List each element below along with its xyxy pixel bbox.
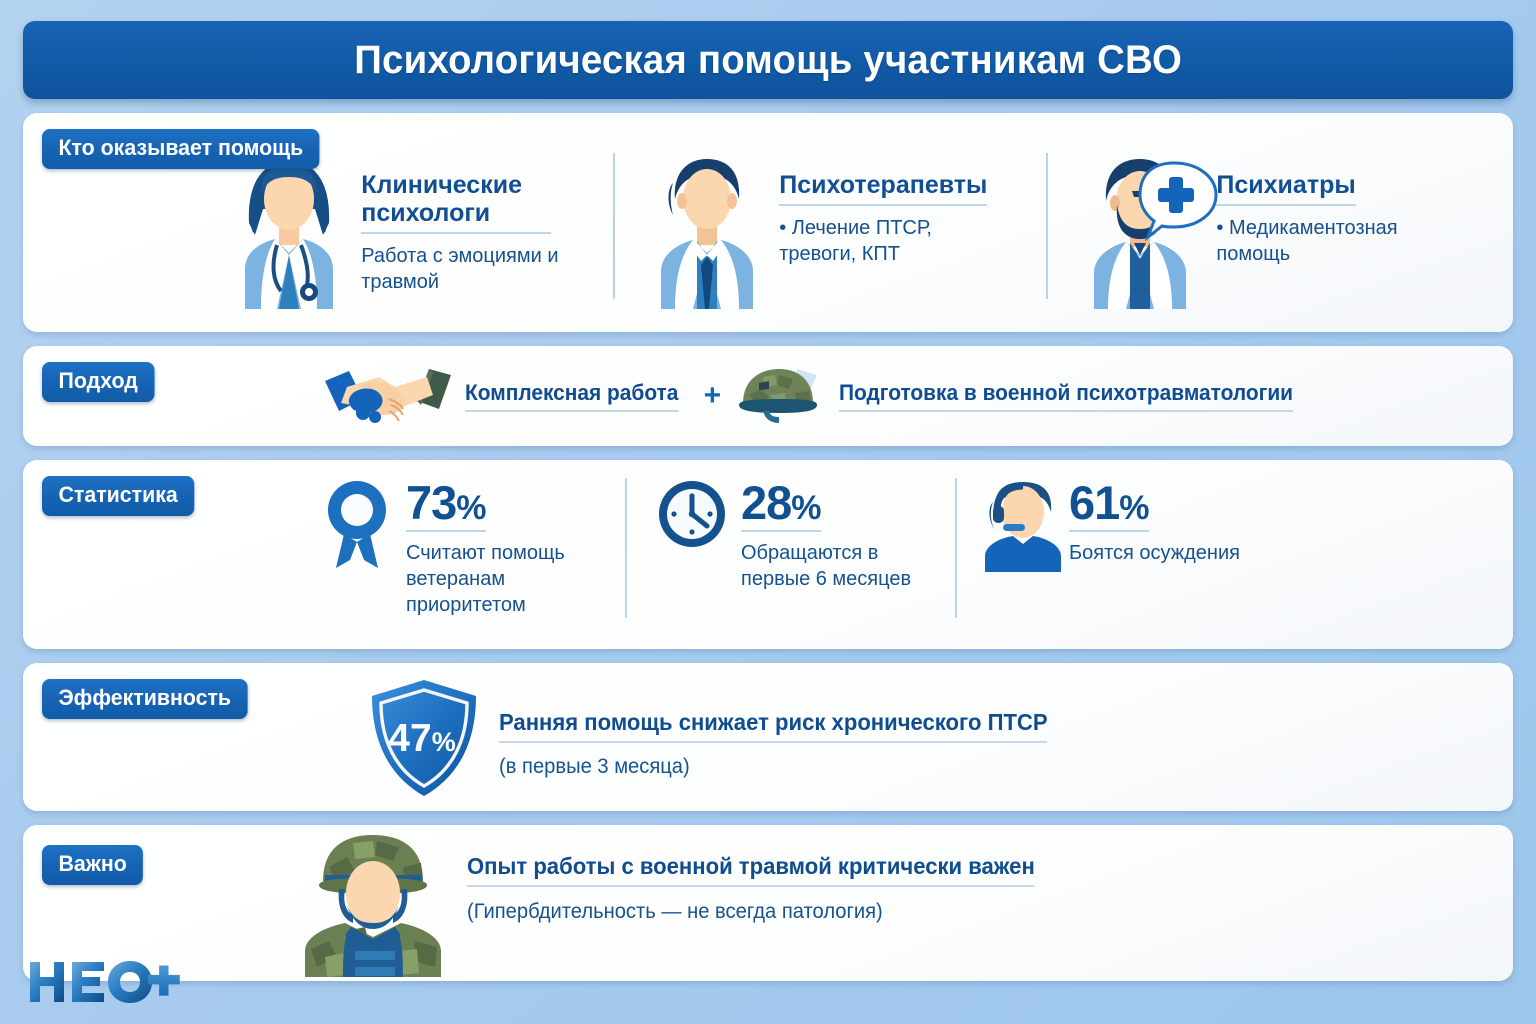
clock-icon bbox=[653, 476, 731, 566]
bullet-icon: • bbox=[779, 217, 792, 239]
infographic-page: Психологическая помощь участникам СВО Кт… bbox=[0, 0, 1536, 1024]
page-title: Психологическая помощь участникам СВО bbox=[354, 38, 1182, 83]
who-column-clinical-psychologists: Клинические психологи Работа с эмоциями … bbox=[23, 149, 609, 324]
who-text-clinical-psychologists: Клинические психологи Работа с эмоциями … bbox=[351, 149, 591, 295]
effectiveness-row: 47% Ранняя помощь снижает риск хроническ… bbox=[363, 677, 1070, 797]
who-description-text: Медикаментозная помощь bbox=[1216, 217, 1397, 265]
stat-item-first-six-months: 28% Обращаются в первые 6 месяцев bbox=[623, 476, 953, 626]
section-effectiveness: Эффективность 47% Ранн bbox=[23, 663, 1513, 811]
who-description: Работа с эмоциями и травмой bbox=[361, 244, 591, 295]
important-row: Опыт работы с военной травмой критически… bbox=[295, 827, 1058, 977]
person-with-headset-icon bbox=[981, 476, 1059, 566]
shield-icon: 47% bbox=[363, 677, 485, 797]
who-description: • Медикаментозная помощь bbox=[1216, 216, 1446, 267]
brand-logo-neo-plus: НЕО+ bbox=[26, 956, 186, 1008]
female-clinical-psychologist-avatar-icon bbox=[227, 149, 351, 309]
handshake-icon bbox=[323, 365, 453, 427]
soldier-avatar-icon bbox=[295, 827, 451, 977]
stat-label-fear-of-judgement: Боятся осуждения bbox=[1069, 540, 1240, 566]
stat-item-fear-of-judgement: 61% Боятся осуждения bbox=[953, 476, 1293, 626]
who-column-psychotherapists: Психотерапевты • Лечение ПТСР, тревоги, … bbox=[609, 149, 1042, 324]
effectiveness-sub-text: (в первые 3 месяца) bbox=[499, 755, 1048, 779]
male-psychotherapist-avatar-icon bbox=[645, 149, 769, 309]
section-approach: Подход bbox=[23, 346, 1513, 446]
stat-label-priority: Считают помощь ветеранам приоритетом bbox=[406, 540, 616, 618]
stat-value-first-six-months: 28% bbox=[741, 480, 821, 532]
award-ribbon-icon bbox=[318, 476, 396, 566]
section-badge-who: Кто оказывает помощь bbox=[42, 129, 320, 169]
stat-item-priority: 73% Считают помощь ветеранам приоритетом bbox=[318, 476, 623, 626]
section-important: Важно bbox=[23, 825, 1513, 981]
important-text: Опыт работы с военной травмой критически… bbox=[467, 827, 1058, 924]
stat-body-first-six-months: 28% Обращаются в первые 6 месяцев bbox=[731, 476, 953, 592]
who-name-label: Психотерапевты bbox=[779, 171, 987, 206]
section-badge-approach: Подход bbox=[42, 362, 154, 402]
stat-body-fear-of-judgement: 61% Боятся осуждения bbox=[1059, 476, 1240, 566]
plus-icon: + bbox=[702, 379, 724, 413]
who-text-psychotherapists: Психотерапевты • Лечение ПТСР, тревоги, … bbox=[769, 149, 1009, 267]
section-statistics: Статистика 73% Считают помощь ветеранам … bbox=[23, 460, 1513, 649]
approach-row: Комплексная работа + bbox=[323, 364, 1317, 428]
stat-value-priority: 73% bbox=[406, 480, 486, 532]
section-who-provides-help: Кто оказывает помощь bbox=[23, 113, 1513, 332]
who-name-label: Клинические психологи bbox=[361, 171, 551, 234]
who-column-psychiatrists: Психиатры • Медикаментозная помощь bbox=[1042, 149, 1513, 324]
stat-body-priority: 73% Считают помощь ветеранам приоритетом bbox=[396, 476, 616, 618]
who-name-label: Психиатры bbox=[1216, 171, 1355, 206]
stat-label-first-six-months: Обращаются в первые 6 месяцев bbox=[741, 540, 953, 592]
effectiveness-text: Ранняя помощь снижает риск хронического … bbox=[499, 677, 1070, 779]
statistics-row: 73% Считают помощь ветеранам приоритетом bbox=[318, 476, 1501, 641]
who-columns: Клинические психологи Работа с эмоциями … bbox=[23, 149, 1513, 324]
page-title-banner: Психологическая помощь участникам СВО bbox=[23, 21, 1513, 99]
section-badge-effectiveness: Эффективность bbox=[42, 679, 248, 719]
stat-value-fear-of-judgement: 61% bbox=[1069, 480, 1149, 532]
approach-item-1: Комплексная работа bbox=[465, 380, 678, 412]
section-badge-statistics: Статистика bbox=[42, 476, 194, 516]
military-helmet-icon bbox=[735, 365, 827, 427]
approach-item-2: Подготовка в военной психотравматологии bbox=[839, 380, 1293, 412]
bearded-psychiatrist-avatar-icon bbox=[1082, 149, 1206, 309]
effectiveness-main-text: Ранняя помощь снижает риск хронического … bbox=[499, 709, 1048, 743]
who-description: • Лечение ПТСР, тревоги, КПТ bbox=[779, 216, 1009, 267]
important-sub-text: (Гипербдительность — не всегда патология… bbox=[467, 900, 1035, 924]
important-main-text: Опыт работы с военной травмой критически… bbox=[467, 853, 1035, 887]
section-badge-important: Важно bbox=[42, 845, 143, 885]
who-text-psychiatrists: Психиатры • Медикаментозная помощь bbox=[1206, 149, 1446, 267]
who-description-text: Лечение ПТСР, тревоги, КПТ bbox=[779, 217, 932, 265]
